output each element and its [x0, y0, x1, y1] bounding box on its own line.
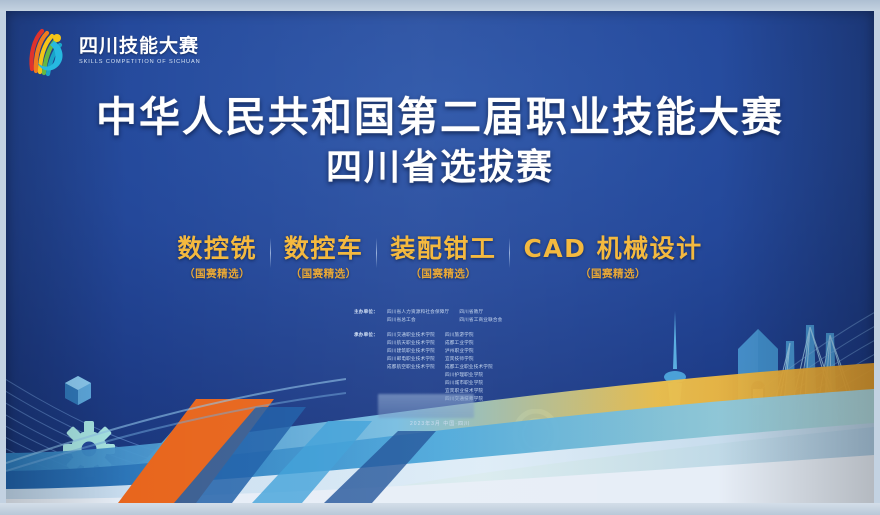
- category-list: 数控铣 （国赛精选） 数控车 （国赛精选） 装配钳工 （国赛精选） CAD 机械…: [6, 235, 874, 281]
- category-note: （国赛精选）: [410, 266, 476, 281]
- racing-car-icon: [584, 459, 676, 503]
- organizer-column-left: 四川交通职业技术学院 四川航天职业技术学院 四川建筑职业技术学院 四川邮电职业技…: [387, 331, 435, 403]
- cable-bridge-icon: [768, 311, 874, 476]
- date-location-line: 2023年3月 中国·四川: [6, 420, 874, 427]
- organizer-label: 承办单位：: [354, 331, 387, 403]
- gear-icon: [63, 421, 115, 477]
- host-name: 四川省工商业联合会: [459, 316, 502, 324]
- left-curve-decor: [6, 313, 346, 473]
- logo-name-cn: 四川技能大赛: [79, 37, 201, 57]
- host-name: 四川省教厅: [459, 308, 502, 316]
- category-name: 数控车: [284, 235, 364, 263]
- tv-tower-icon: [654, 311, 698, 503]
- logo-name-en: SKILLS COMPETITION OF SICHUAN: [79, 59, 201, 65]
- organizer-name: 四川建筑职业技术学院: [387, 347, 435, 355]
- organizer-name: 四川邮电职业技术学院: [387, 355, 435, 363]
- organizer-name: 成都航空职业技术学院: [387, 363, 435, 371]
- bearing-ring-icon: [511, 409, 561, 473]
- rainbow-fan-swirl-logo-icon: [24, 25, 72, 77]
- category-item-3: CAD 机械设计 （国赛精选）: [510, 235, 715, 281]
- organizer-name: 成都工业学院: [445, 339, 493, 347]
- event-headline: 中华人民共和国第二届职业技能大赛 四川省选拔赛: [6, 93, 874, 190]
- event-backdrop-board: 四川技能大赛 SKILLS COMPETITION OF SICHUAN 中华人…: [6, 11, 874, 503]
- category-note: （国赛精选）: [291, 266, 357, 281]
- category-name: 数控铣: [177, 235, 257, 263]
- organizer-name: 四川交通职业技术学院: [387, 331, 435, 339]
- category-note: （国赛精选）: [580, 266, 646, 281]
- category-name: 装配钳工: [390, 235, 496, 263]
- organizer-name: 宜宾技师学院: [445, 355, 493, 363]
- organizer-column-right: 四川旅游学院 成都工业学院 泸州职业学院 宜宾技师学院 成都工业职业技术学院 四…: [445, 331, 493, 403]
- screenshot-root: 四川技能大赛 SKILLS COMPETITION OF SICHUAN 中华人…: [0, 0, 880, 515]
- monument-gate-icon: [730, 329, 786, 499]
- right-line-fan-decor: [616, 301, 874, 503]
- organizer-row: 承办单位： 四川交通职业技术学院 四川航天职业技术学院 四川建筑职业技术学院 四…: [354, 331, 582, 403]
- organizer-name: 四川旅游学院: [445, 331, 493, 339]
- organizer-name: 泸州职业学院: [445, 347, 493, 355]
- organizer-name: 四川航天职业技术学院: [387, 339, 435, 347]
- headline-line-2: 四川省选拔赛: [6, 145, 874, 190]
- cube-icon: [61, 373, 95, 409]
- host-name: 四川省人力资源和社会保障厅: [387, 308, 449, 316]
- organizer-name: 四川护理职业学院: [445, 371, 493, 379]
- category-name: CAD 机械设计: [523, 235, 702, 263]
- wall-strip-bottom: [0, 503, 880, 515]
- organizer-name: 四川城市职业学院: [445, 379, 493, 387]
- category-item-0: 数控铣 （国赛精选）: [164, 235, 270, 281]
- event-logo: 四川技能大赛 SKILLS COMPETITION OF SICHUAN: [24, 25, 201, 77]
- headline-line-1: 中华人民共和国第二届职业技能大赛: [6, 93, 874, 141]
- category-note: （国赛精选）: [184, 266, 250, 281]
- host-label: 主办单位：: [354, 308, 387, 324]
- category-item-1: 数控车 （国赛精选）: [271, 235, 377, 281]
- host-column-right: 四川省教厅 四川省工商业联合会: [459, 308, 502, 324]
- host-column-left: 四川省人力资源和社会保障厅 四川省总工会: [387, 308, 449, 324]
- host-name: 四川省总工会: [387, 316, 449, 324]
- host-row: 主办单位： 四川省人力资源和社会保障厅 四川省总工会 四川省教厅 四川省工商业联…: [354, 308, 582, 324]
- organizer-name: 成都工业职业技术学院: [445, 363, 493, 371]
- category-item-2: 装配钳工 （国赛精选）: [377, 235, 509, 281]
- redacted-panel: [378, 394, 474, 418]
